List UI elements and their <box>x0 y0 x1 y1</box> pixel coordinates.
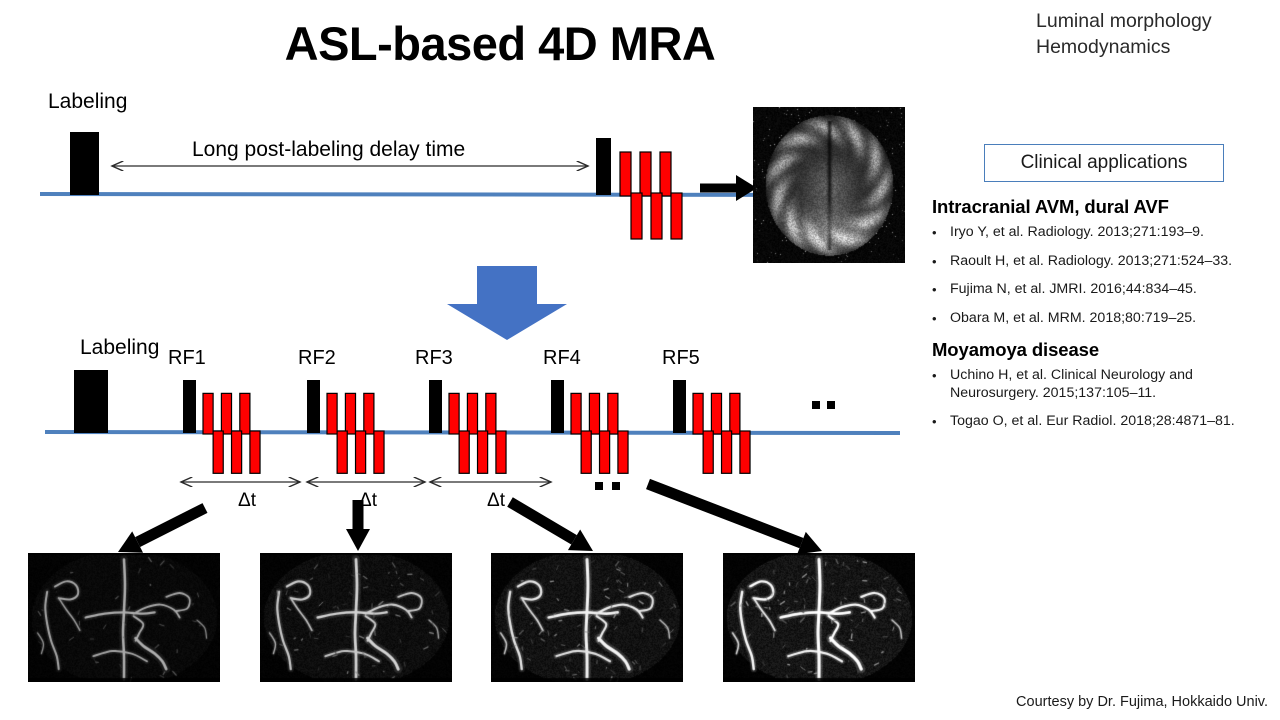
mra-frame-3 <box>491 553 683 682</box>
delta-t-label-3: Δt <box>487 490 505 512</box>
rf-label-2: RF2 <box>298 347 336 370</box>
rf-pulse-2 <box>307 380 320 433</box>
rf-pulse-5 <box>673 380 686 433</box>
readout-bar-down <box>496 431 506 473</box>
readout-bar-down <box>581 431 591 473</box>
readout-bar-up <box>221 393 231 434</box>
readout-bar-up <box>589 393 599 434</box>
rf-label-5: RF5 <box>662 347 700 370</box>
readout-bar-up <box>449 393 459 434</box>
readout-bar-down <box>250 431 260 473</box>
readout-bar-up <box>730 393 740 434</box>
readout-bar-up <box>620 152 631 196</box>
ellipsis-dot-bottom-2 <box>612 482 620 490</box>
bottom-labeling-pulse <box>74 370 108 433</box>
arrow-to-mra-3-shaft <box>510 502 574 540</box>
arrow-to-mra-2-head <box>346 529 370 551</box>
mra-frame-2 <box>260 553 452 682</box>
readout-bar-down <box>740 431 750 473</box>
readout-bar-down <box>478 431 488 473</box>
top-labeling-pulse <box>70 132 99 195</box>
readout-bar-down <box>213 431 223 473</box>
arrow-to-mra-1-shaft <box>138 508 205 542</box>
readout-bar-down <box>356 431 366 473</box>
readout-bar-down <box>671 193 682 239</box>
readout-bar-down <box>651 193 662 239</box>
readout-bar-up <box>711 393 721 434</box>
readout-bar-up <box>486 393 496 434</box>
rf-pulse-3 <box>429 380 442 433</box>
bottom-labeling-label: Labeling <box>80 336 159 360</box>
axial-perfusion-image <box>753 107 905 263</box>
readout-bar-down <box>600 431 610 473</box>
readout-bar-down <box>703 431 713 473</box>
readout-bar-up <box>693 393 703 434</box>
top-labeling-label: Labeling <box>48 90 127 114</box>
delta-t-label-1: Δt <box>238 490 256 512</box>
rf-label-3: RF3 <box>415 347 453 370</box>
readout-bar-up <box>467 393 477 434</box>
readout-bar-down <box>459 431 469 473</box>
readout-bar-down <box>722 431 732 473</box>
post-labeling-delay-label: Long post-labeling delay time <box>192 138 465 162</box>
readout-bar-up <box>203 393 213 434</box>
top-rf-pulse <box>596 138 611 195</box>
ellipsis-dot-top-1 <box>812 401 820 409</box>
rf-label-1: RF1 <box>168 347 206 370</box>
readout-bar-down <box>618 431 628 473</box>
rf-label-4: RF4 <box>543 347 581 370</box>
readout-bar-up <box>640 152 651 196</box>
readout-bar-up <box>571 393 581 434</box>
readout-bar-up <box>240 393 250 434</box>
readout-bar-up <box>327 393 337 434</box>
readout-bar-up <box>364 393 374 434</box>
readout-bar-down <box>232 431 242 473</box>
mra-frame-4 <box>723 553 915 682</box>
arrow-to-mra-4-shaft <box>648 484 801 543</box>
big-blue-down-arrow <box>447 266 567 340</box>
readout-bar-down <box>374 431 384 473</box>
mra-frame-1 <box>28 553 220 682</box>
readout-bar-up <box>608 393 618 434</box>
readout-bar-down <box>337 431 347 473</box>
rf-pulse-1 <box>183 380 196 433</box>
rf-pulse-4 <box>551 380 564 433</box>
ellipsis-dot-top-2 <box>827 401 835 409</box>
delta-t-label-2: Δt <box>359 490 377 512</box>
ellipsis-dot-bottom-1 <box>595 482 603 490</box>
readout-bar-down <box>631 193 642 239</box>
readout-bar-up <box>345 393 355 434</box>
readout-bar-up <box>660 152 671 196</box>
